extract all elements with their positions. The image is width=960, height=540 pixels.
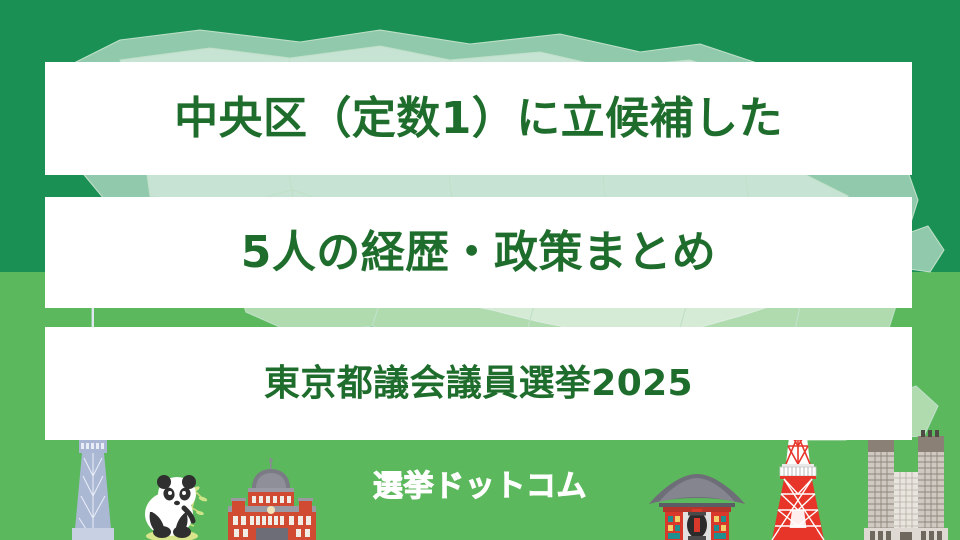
headline-line-2: 5人の経歴・政策まとめ	[241, 231, 716, 275]
headline-line-1: 中央区（定数1）に立候補した	[174, 97, 783, 141]
headline-banner-1: 中央区（定数1）に立候補した	[45, 62, 912, 175]
headline-banner-2: 5人の経歴・政策まとめ	[45, 197, 912, 308]
headline-banner-3: 東京都議会議員選挙2025	[45, 327, 912, 440]
poster-canvas: 中央区（定数1）に立候補した 5人の経歴・政策まとめ 東京都議会議員選挙2025…	[0, 0, 960, 540]
tokyo-station-icon	[218, 458, 326, 540]
headline-line-3: 東京都議会議員選挙2025	[264, 366, 693, 402]
kaminarimon-gate-icon	[645, 470, 749, 540]
panda-icon	[136, 468, 216, 540]
